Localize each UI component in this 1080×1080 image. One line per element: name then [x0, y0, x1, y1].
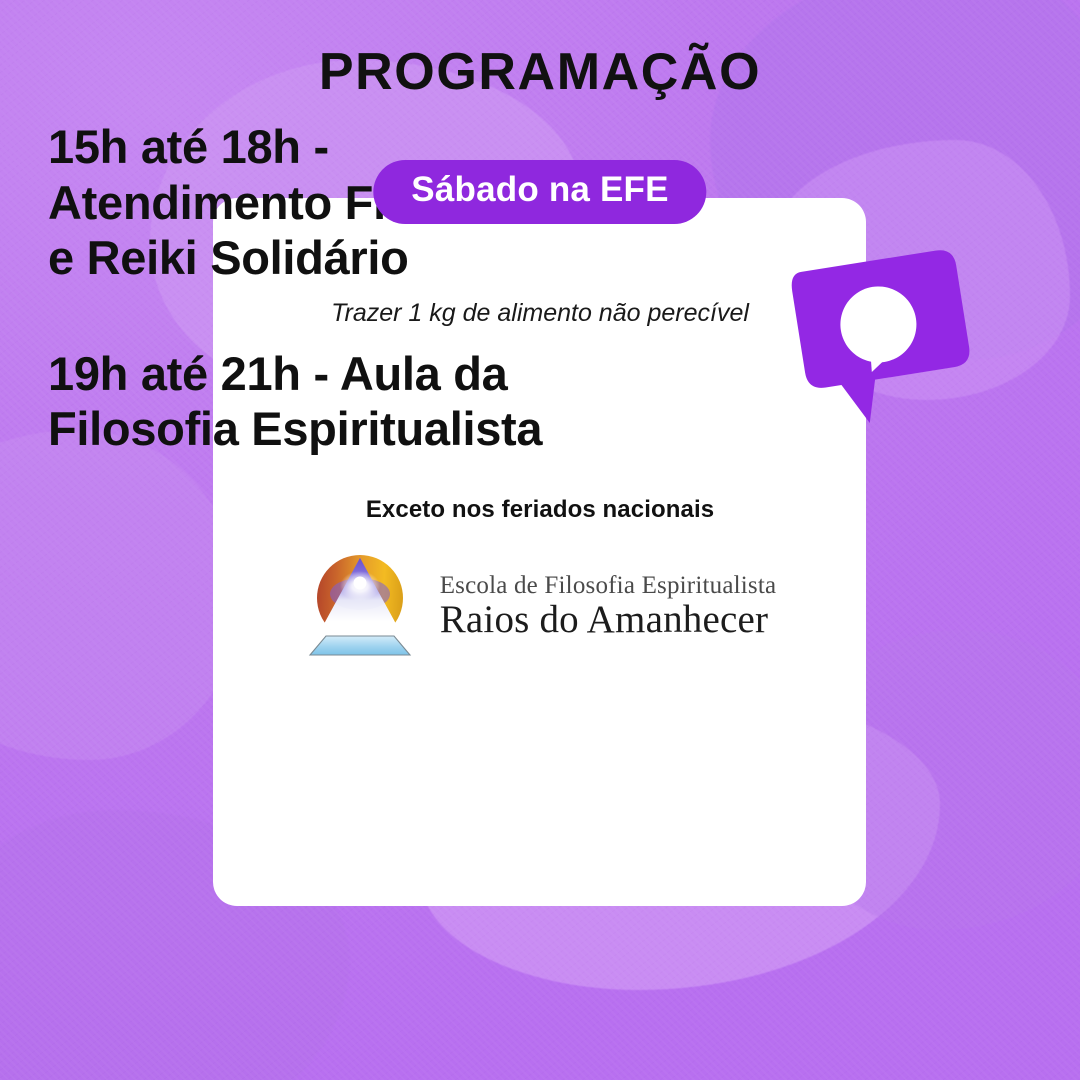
pyramid-sunrise-logo-icon	[304, 550, 430, 662]
exception-note: Exceto nos feriados nacionais	[366, 496, 714, 524]
logo-wordmark: Escola de Filosofia Espiritualista Raios…	[440, 573, 777, 639]
organization-logo: Escola de Filosofia Espiritualista Raios…	[304, 550, 777, 662]
logo-line-2: Raios do Amanhecer	[440, 600, 777, 639]
logo-line-1: Escola de Filosofia Espiritualista	[440, 573, 777, 598]
page-title: PROGRAMAÇÃO	[319, 44, 761, 101]
speech-bubble-icon	[782, 242, 982, 427]
poster-canvas: PROGRAMAÇÃO 15h até 18h - Atendimento Fr…	[0, 0, 1080, 1080]
status-badge: Sábado na EFE	[373, 160, 706, 224]
